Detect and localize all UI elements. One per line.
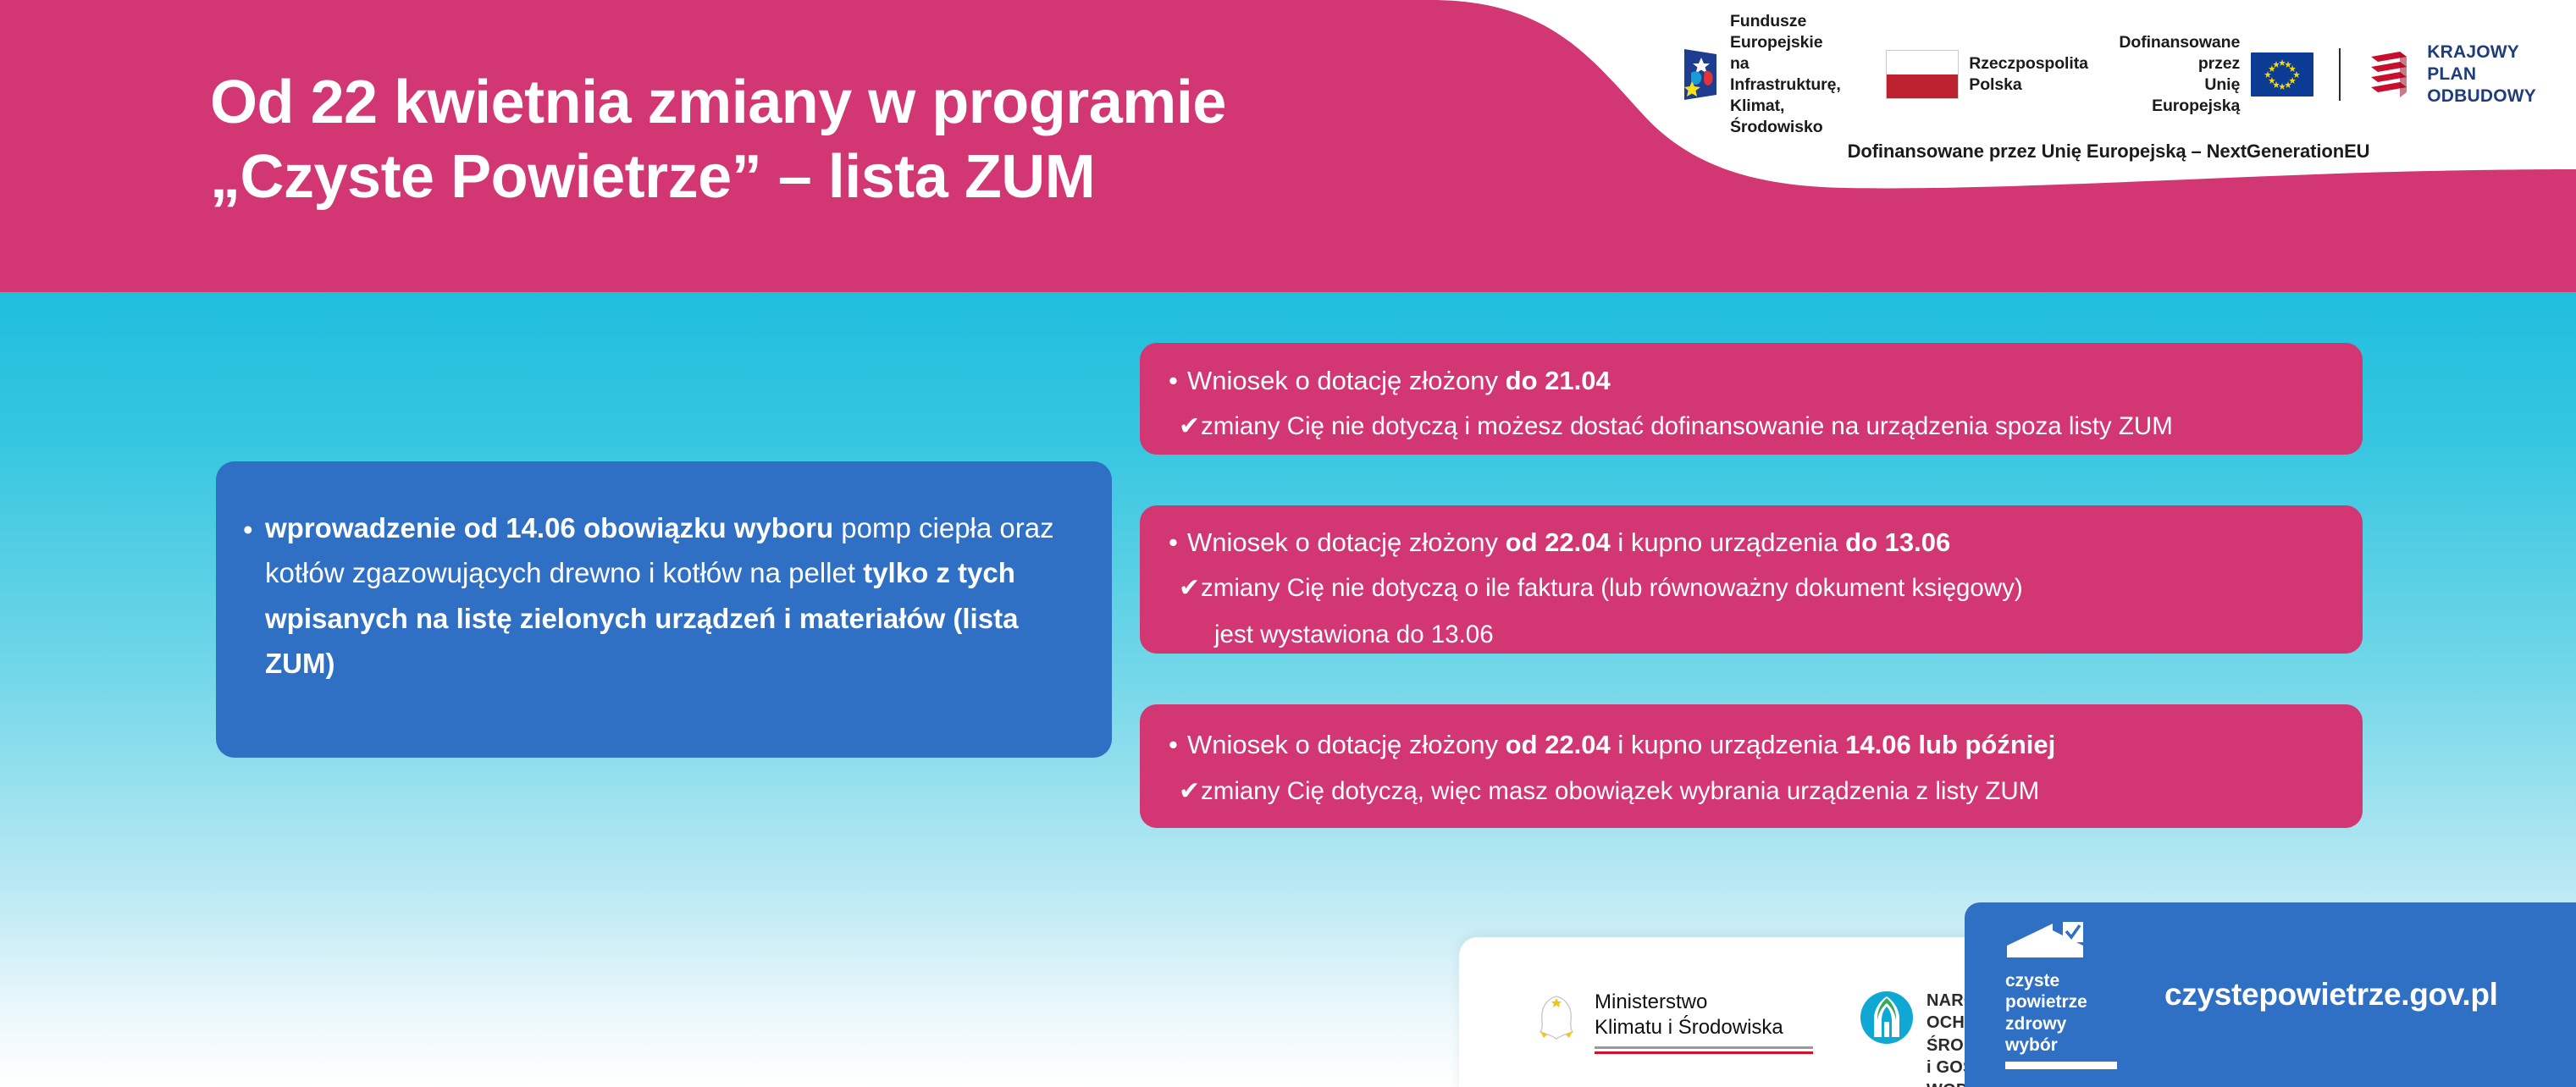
blue-box-segment-1: wprowadzenie od 14.06 obowiązku wyboru (265, 512, 841, 543)
scenario-card-3-heading-part-1: Wniosek o dotację złożony (1187, 730, 1506, 759)
scenario-card-1-heading-part-2: do 21.04 (1506, 366, 1611, 395)
fundusze-europejskie-label: Fundusze Europejskie na Infrastrukturę, … (1730, 11, 1863, 138)
scenario-card-3-bullet: • (1169, 728, 1187, 762)
czyste-powietrze-logo: czyste powietrze zdrowy wybór (2005, 920, 2117, 1069)
scenario-card-2-heading-part-3: i kupno urządzenia (1611, 527, 1845, 557)
page-title: Od 22 kwietnia zmiany w programie „Czyst… (210, 66, 1311, 215)
dofinansowane-ue-label: Dofinansowane przez Unię Europejską (2117, 32, 2240, 117)
czyste-powietrze-line-1: czyste powietrze (2005, 970, 2117, 1013)
eu-flag-icon (2251, 52, 2313, 97)
scenario-card-3-heading-part-4: 14.06 lub później (1845, 730, 2055, 759)
scenario-card-1-detail-text: zmiany Cię nie dotyczą i możesz dostać d… (1201, 412, 2173, 440)
rzeczpospolita-polska-label: Rzeczpospolita Polska (1969, 53, 2088, 96)
czyste-powietrze-line-2: zdrowy wybór (2005, 1013, 2117, 1056)
scenario-card-2-detail-text: zmiany Cię nie dotyczą o ile faktura (lu… (1201, 574, 2023, 602)
blue-info-box-text: • wprowadzenie od 14.06 obowiązku wyboru… (265, 505, 1075, 687)
scenario-card-2-heading-part-1: Wniosek o dotację złożony (1187, 527, 1506, 557)
scenario-card-1: •Wniosek o dotację złożony do 21.04 ✔zmi… (1140, 343, 2363, 455)
scenario-card-3: •Wniosek o dotację złożony od 22.04 i ku… (1140, 704, 2363, 828)
scenario-card-2-detail-cont: jest wystawiona do 13.06 (1214, 619, 2339, 651)
kpo-mark-icon (2366, 48, 2415, 101)
nfosigw-mark-icon (1859, 990, 1915, 1046)
scenario-card-2-heading-part-4: do 13.06 (1845, 527, 1950, 557)
check-icon: ✔ (1179, 571, 1201, 604)
rzeczpospolita-polska-logo: Rzeczpospolita Polska (1886, 50, 2088, 99)
scenario-card-2: •Wniosek o dotację złożony od 22.04 i ku… (1140, 505, 2363, 654)
krajowy-plan-odbudowy-logo: KRAJOWY PLAN ODBUDOWY (2366, 41, 2536, 108)
czyste-powietrze-underline (2005, 1062, 2117, 1069)
kpo-label: KRAJOWY PLAN ODBUDOWY (2427, 41, 2536, 108)
scenario-card-3-detail-text: zmiany Cię dotyczą, więc masz obowiązek … (1201, 777, 2039, 805)
fundusze-europejskie-flag-icon (1681, 47, 1720, 102)
website-url[interactable]: czystepowietrze.gov.pl (2164, 977, 2498, 1013)
ministerstwo-rule (1595, 1046, 1813, 1054)
infographic-stage: Od 22 kwietnia zmiany w programie „Czyst… (0, 0, 2576, 1087)
eu-funding-subline: Dofinansowane przez Unię Europejską – Ne… (1681, 141, 2536, 163)
ministerstwo-logo: Ministerstwo Klimatu i Środowiska (1528, 990, 1813, 1054)
scenario-card-2-bullet: • (1169, 526, 1187, 560)
scenario-card-3-heading-part-3: i kupno urządzenia (1611, 730, 1845, 759)
scenario-card-3-detail: ✔zmiany Cię dotyczą, więc masz obowiązek… (1179, 775, 2339, 808)
blue-info-box: • wprowadzenie od 14.06 obowiązku wyboru… (216, 461, 1112, 758)
poland-flag-icon (1886, 50, 1959, 99)
ministerstwo-label: Ministerstwo Klimatu i Środowiska (1595, 990, 1813, 1040)
fundusze-europejskie-logo: Fundusze Europejskie na Infrastrukturę, … (1681, 11, 1863, 138)
scenario-card-1-bullet: • (1169, 364, 1187, 398)
check-icon: ✔ (1179, 410, 1201, 443)
scenario-card-1-heading-part-1: Wniosek o dotację złożony (1187, 366, 1506, 395)
polish-eagle-icon (1528, 990, 1584, 1046)
scenario-card-2-heading: •Wniosek o dotację złożony od 22.04 i ku… (1169, 526, 2339, 560)
house-roof-checkmark-icon (2005, 920, 2117, 963)
check-icon: ✔ (1179, 775, 1201, 808)
eu-funding-logo-strip: Fundusze Europejskie na Infrastrukturę, … (1681, 32, 2536, 117)
logo-divider (2339, 48, 2341, 101)
scenario-card-3-heading: •Wniosek o dotację złożony od 22.04 i ku… (1169, 728, 2339, 762)
scenario-card-1-heading: •Wniosek o dotację złożony do 21.04 (1169, 364, 2339, 398)
scenario-card-2-detail: ✔zmiany Cię nie dotyczą o ile faktura (l… (1179, 571, 2339, 604)
scenario-card-3-heading-part-2: od 22.04 (1506, 730, 1611, 759)
scenario-card-1-detail: ✔zmiany Cię nie dotyczą i możesz dostać … (1179, 410, 2339, 443)
blue-box-bullet: • (243, 507, 253, 552)
dofinansowane-ue-logo: Dofinansowane przez Unię Europejską (2117, 32, 2313, 117)
footer-brand-badge: czyste powietrze zdrowy wybór czystepowi… (1965, 902, 2576, 1087)
scenario-card-2-heading-part-2: od 22.04 (1506, 527, 1611, 557)
header-banner: Od 22 kwietnia zmiany w programie „Czyst… (0, 0, 2576, 292)
